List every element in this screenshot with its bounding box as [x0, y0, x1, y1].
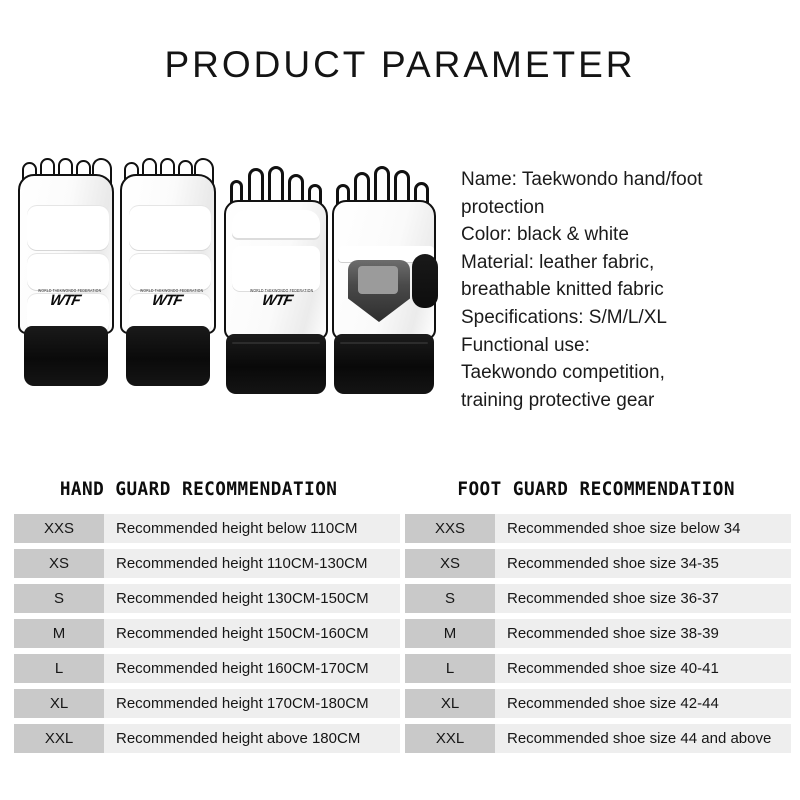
padding-panel [27, 206, 109, 250]
foot-guard-body [120, 174, 216, 334]
foot-guard-body [18, 174, 114, 334]
recommendation-cell: Recommended shoe size 38-39 [495, 619, 791, 648]
recommendation-cell: Recommended height 110CM-130CM [104, 549, 400, 578]
wrist-cuff [226, 334, 326, 394]
size-cell: L [405, 654, 495, 683]
size-cell: M [14, 619, 104, 648]
knuckle-pad [232, 210, 320, 240]
table-row: XS Recommended height 110CM-130CM [14, 549, 400, 578]
description-line: Specifications: S/M/L/XL [461, 304, 791, 332]
recommendation-cell: Recommended height 130CM-150CM [104, 584, 400, 613]
size-cell: XS [14, 549, 104, 578]
description-line: protection [461, 194, 791, 222]
recommendation-cell: Recommended shoe size 42-44 [495, 689, 791, 718]
wtf-logo: WORLD TAEKWONDO FEDERATION WTF [38, 290, 92, 308]
page-title: PRODUCT PARAMETER [0, 44, 800, 86]
wtf-logo-mark: WTF [138, 293, 195, 308]
padding-panel [129, 254, 211, 290]
product-image-hand-guard-back: WORLD TAEKWONDO FEDERATION WTF [224, 166, 328, 401]
ankle-cuff [24, 326, 108, 386]
size-cell: XXS [14, 514, 104, 543]
hand-guard-rows: XXS Recommended height below 110CM XS Re… [14, 514, 400, 753]
table-row: XXS Recommended height below 110CM [14, 514, 400, 543]
foot-guard-size-table: FOOT GUARD RECOMMENDATION XXS Recommende… [405, 478, 791, 753]
size-cell: L [14, 654, 104, 683]
product-image-group: WORLD TAEKWONDO FEDERATION WTF WORLD TAE… [10, 140, 450, 400]
table-row: XXS Recommended shoe size below 34 [405, 514, 791, 543]
product-description: Name: Taekwondo hand/foot protection Col… [461, 166, 791, 414]
description-line: breathable knitted fabric [461, 276, 791, 304]
size-cell: XL [405, 689, 495, 718]
recommendation-cell: Recommended shoe size 34-35 [495, 549, 791, 578]
product-image-foot-guard-right: WORLD TAEKWONDO FEDERATION WTF [120, 158, 216, 393]
description-line: Material: leather fabric, [461, 249, 791, 277]
recommendation-cell: Recommended shoe size 36-37 [495, 584, 791, 613]
padding-panel [232, 246, 320, 292]
hand-guard-table-heading: HAND GUARD RECOMMENDATION [28, 478, 387, 500]
wtf-logo: WORLD TAEKWONDO FEDERATION WTF [250, 290, 304, 308]
size-cell: XXS [405, 514, 495, 543]
wrist-cuff [334, 334, 434, 394]
description-line: Color: black & white [461, 221, 791, 249]
recommendation-cell: Recommended height 160CM-170CM [104, 654, 400, 683]
description-line: training protective gear [461, 387, 791, 415]
table-row: M Recommended shoe size 38-39 [405, 619, 791, 648]
recommendation-cell: Recommended shoe size 40-41 [495, 654, 791, 683]
recommendation-cell: Recommended shoe size below 34 [495, 514, 791, 543]
product-image-hand-guard-palm [332, 166, 436, 401]
size-cell: S [14, 584, 104, 613]
recommendation-cell: Recommended height 150CM-160CM [104, 619, 400, 648]
recommendation-cell: Recommended height below 110CM [104, 514, 400, 543]
table-row: L Recommended height 160CM-170CM [14, 654, 400, 683]
foot-guard-rows: XXS Recommended shoe size below 34 XS Re… [405, 514, 791, 753]
table-row: S Recommended height 130CM-150CM [14, 584, 400, 613]
foot-guard-table-heading: FOOT GUARD RECOMMENDATION [419, 478, 778, 500]
table-row: M Recommended height 150CM-160CM [14, 619, 400, 648]
thumb-loop [412, 254, 438, 308]
table-row: S Recommended shoe size 36-37 [405, 584, 791, 613]
wtf-logo-mark: WTF [248, 293, 305, 308]
table-row: XL Recommended height 170CM-180CM [14, 689, 400, 718]
hand-guard-body [332, 200, 436, 340]
padding-panel [129, 206, 211, 250]
recommendation-cell: Recommended height above 180CM [104, 724, 400, 753]
size-cell: XXL [14, 724, 104, 753]
size-cell: XXL [405, 724, 495, 753]
description-line: Name: Taekwondo hand/foot [461, 166, 791, 194]
product-image-foot-guard-left: WORLD TAEKWONDO FEDERATION WTF [18, 158, 114, 393]
size-cell: S [405, 584, 495, 613]
ankle-cuff [126, 326, 210, 386]
size-cell: XL [14, 689, 104, 718]
table-row: XS Recommended shoe size 34-35 [405, 549, 791, 578]
recommendation-cell: Recommended height 170CM-180CM [104, 689, 400, 718]
description-line: Functional use: [461, 332, 791, 360]
size-cell: M [405, 619, 495, 648]
table-row: XXL Recommended height above 180CM [14, 724, 400, 753]
palm-mesh-panel [358, 266, 398, 294]
wtf-logo: WORLD TAEKWONDO FEDERATION WTF [140, 290, 194, 308]
size-cell: XS [405, 549, 495, 578]
recommendation-cell: Recommended shoe size 44 and above [495, 724, 791, 753]
hand-guard-body [224, 200, 328, 340]
padding-panel [27, 254, 109, 290]
wtf-logo-mark: WTF [36, 293, 93, 308]
description-line: Taekwondo competition, [461, 359, 791, 387]
table-row: L Recommended shoe size 40-41 [405, 654, 791, 683]
table-row: XXL Recommended shoe size 44 and above [405, 724, 791, 753]
hand-guard-size-table: HAND GUARD RECOMMENDATION XXS Recommende… [14, 478, 400, 753]
table-row: XL Recommended shoe size 42-44 [405, 689, 791, 718]
